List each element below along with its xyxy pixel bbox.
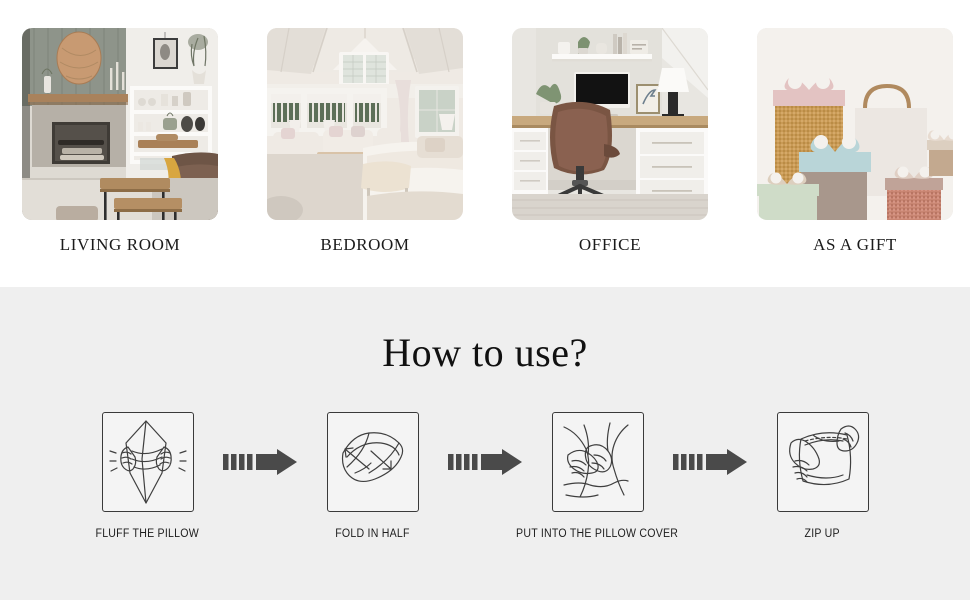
step-item: PUT INTO THE PILLOW COVER (535, 412, 660, 540)
room-card[interactable]: BEDROOM (267, 28, 463, 255)
room-card-label: LIVING ROOM (22, 235, 218, 255)
step-label: FOLD IN HALF (335, 528, 409, 540)
dashed-arrow-icon (435, 412, 535, 512)
dashed-arrow-icon (210, 412, 310, 512)
room-card-label: BEDROOM (267, 235, 463, 255)
how-to-use-section: How to use? (0, 287, 970, 600)
room-card-label: AS A GIFT (757, 235, 953, 255)
gift-illustration (757, 28, 953, 220)
steps-row: FLUFF THE PILLOW (0, 412, 970, 540)
product-detail-page: LIVING ROOM (0, 0, 970, 600)
step-label: PUT INTO THE PILLOW COVER (516, 528, 678, 540)
how-to-use-title: How to use? (0, 287, 970, 376)
step-label: ZIP UP (805, 528, 840, 540)
zip-pillow-icon (777, 412, 869, 512)
bedroom-photo (267, 28, 463, 220)
room-card[interactable]: LIVING ROOM (22, 28, 218, 255)
dashed-arrow-icon (660, 412, 760, 512)
insert-pillow-icon (552, 412, 644, 512)
room-showcase-section: LIVING ROOM (0, 0, 970, 287)
living-room-photo (22, 28, 218, 220)
step-item: FOLD IN HALF (310, 412, 435, 540)
room-card-row: LIVING ROOM (0, 0, 970, 255)
fold-pillow-icon (327, 412, 419, 512)
room-card[interactable]: AS A GIFT (757, 28, 953, 255)
fluff-pillow-icon (102, 412, 194, 512)
room-card-label: OFFICE (512, 235, 708, 255)
room-card[interactable]: OFFICE (512, 28, 708, 255)
step-label: FLUFF THE PILLOW (96, 528, 199, 540)
office-photo (512, 28, 708, 220)
step-item: FLUFF THE PILLOW (85, 412, 210, 540)
step-item: ZIP UP (760, 412, 885, 540)
